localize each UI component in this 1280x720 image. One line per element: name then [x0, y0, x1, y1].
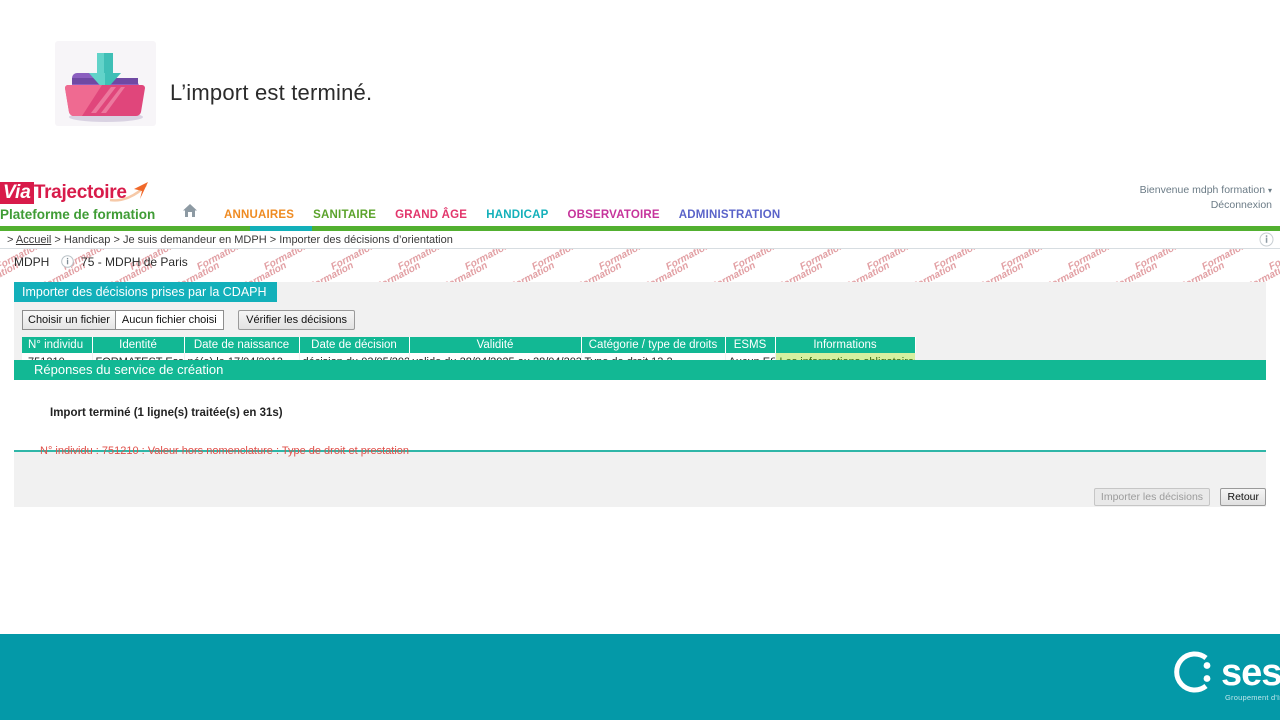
slide-top-area: L’import est terminé. — [0, 0, 1280, 180]
home-icon[interactable] — [181, 202, 199, 220]
breadcrumb-item-demandeur[interactable]: Je suis demandeur en MDPH — [123, 234, 267, 246]
import-folder-icon — [55, 41, 156, 126]
content-area: FormationFormationFormationFormationForm… — [0, 249, 1280, 634]
watermark-text: Formation — [932, 249, 980, 273]
application-window: ViaTrajectoire Plateforme de formation A… — [0, 180, 1280, 634]
watermark-text: Formation — [1066, 249, 1114, 273]
viatrajectoire-logo[interactable]: ViaTrajectoire Plateforme de formation — [0, 182, 150, 228]
user-welcome-row[interactable]: Bienvenue mdph formation ▾ — [1140, 183, 1272, 198]
watermark-text: Formation — [530, 249, 578, 273]
info-icon[interactable] — [61, 251, 74, 264]
sesan-tagline-prefix: Groupement d'Intérêt Public — [1225, 693, 1280, 702]
nav-item-grand-age[interactable]: GRAND ÂGE — [395, 209, 467, 221]
column-header-validite: Validité — [409, 337, 581, 353]
mdph-value[interactable]: 75 - MDPH de Paris — [81, 255, 188, 269]
choose-file-button[interactable]: Choisir un fichier — [23, 311, 116, 329]
page-background — [14, 452, 1266, 507]
logo-via-text: Via — [0, 182, 34, 204]
breadcrumb-item-handicap[interactable]: Handicap — [64, 234, 110, 246]
nav-item-annuaires[interactable]: ANNUAIRES — [224, 209, 294, 221]
breadcrumb-sep-1: > — [54, 234, 60, 246]
column-header-esms: ESMS — [725, 337, 775, 353]
import-decisions-button[interactable]: Importer les décisions — [1094, 488, 1210, 506]
breadcrumb: > Accueil > Handicap > Je suis demandeur… — [0, 231, 1280, 249]
sesan-tagline: Groupement d'Intérêt Public eSanté — [1225, 693, 1280, 702]
verify-decisions-button[interactable]: Vérifier les décisions — [238, 310, 355, 330]
import-panel: Importer des décisions prises par la CDA… — [14, 282, 1266, 452]
column-header-numero: N° individu — [22, 337, 92, 353]
bottom-actions: Importer les décisions Retour — [1094, 487, 1266, 506]
user-menu: Bienvenue mdph formation ▾ Déconnexion — [1140, 183, 1272, 212]
nav-item-handicap[interactable]: HANDICAP — [486, 209, 548, 221]
nav-item-sanitaire[interactable]: SANITAIRE — [313, 209, 376, 221]
table-header-row: N° individu Identité Date de naissance D… — [22, 337, 915, 353]
watermark-text: Formation — [865, 249, 913, 273]
column-header-informations: Informations — [775, 337, 915, 353]
watermark-text: Formation — [195, 249, 243, 273]
import-error-text: N° individu : 751210 : Valeur hors nomen… — [40, 445, 409, 457]
column-header-identite: Identité — [92, 337, 184, 353]
chevron-down-icon: ▾ — [1268, 186, 1272, 195]
panel-title: Importer des décisions prises par la CDA… — [14, 282, 277, 302]
slide-footer: sesan Groupement d'Intérêt Public eSanté — [0, 634, 1280, 720]
back-button[interactable]: Retour — [1220, 488, 1266, 506]
watermark-text: Formation — [999, 249, 1047, 273]
watermark-text: Formation — [396, 249, 444, 273]
watermark-text: Formation — [798, 249, 846, 273]
breadcrumb-prefix: > — [7, 234, 13, 246]
breadcrumb-item-accueil[interactable]: Accueil — [16, 234, 51, 246]
responses-panel: Réponses du service de création Import t… — [14, 360, 1266, 452]
watermark-text: Formation — [597, 249, 645, 273]
mdph-label: MDPH — [14, 255, 49, 269]
chosen-file-name: Aucun fichier choisi — [116, 311, 223, 329]
file-input[interactable]: Choisir un fichierAucun fichier choisi — [22, 310, 224, 330]
breadcrumb-sep-2: > — [113, 234, 119, 246]
watermark-text: Formation — [1200, 249, 1248, 273]
sesan-logo: sesan Groupement d'Intérêt Public eSanté — [1169, 648, 1217, 701]
watermark-text: Formation — [463, 249, 511, 273]
column-header-naissance: Date de naissance — [184, 337, 299, 353]
logout-link[interactable]: Déconnexion — [1211, 199, 1272, 211]
info-icon[interactable] — [1259, 232, 1274, 247]
import-toolbar: Choisir un fichierAucun fichier choisi V… — [22, 310, 355, 330]
watermark-text: Formation — [262, 249, 310, 273]
responses-title: Réponses du service de création — [14, 360, 1266, 380]
mdph-selector-row: MDPH 75 - MDPH de Paris — [14, 249, 188, 275]
nav-item-administration[interactable]: ADMINISTRATION — [679, 209, 781, 221]
main-navigation: ANNUAIRESSANITAIREGRAND ÂGEHANDICAPOBSER… — [224, 205, 799, 225]
slide-caption: L’import est terminé. — [170, 80, 372, 106]
import-summary-text: Import terminé (1 ligne(s) traitée(s) en… — [50, 407, 283, 419]
app-header: ViaTrajectoire Plateforme de formation A… — [0, 180, 1280, 228]
column-header-categorie: Catégorie / type de droits — [581, 337, 725, 353]
breadcrumb-item-current: Importer des décisions d’orientation — [279, 234, 453, 246]
nav-item-observatoire[interactable]: OBSERVATOIRE — [567, 209, 659, 221]
column-header-decision: Date de décision — [299, 337, 409, 353]
sesan-logo-icon — [1169, 683, 1217, 700]
breadcrumb-sep-3: > — [270, 234, 276, 246]
logo-subtitle: Plateforme de formation — [0, 207, 155, 222]
watermark-text: Formation — [1267, 249, 1280, 273]
watermark-text: Formation — [664, 249, 712, 273]
watermark-text: Formation — [329, 249, 377, 273]
watermark-text: Formation — [731, 249, 779, 273]
watermark-text: Formation — [1133, 249, 1181, 273]
sesan-wordmark: sesan — [1221, 654, 1280, 692]
user-welcome-label: Bienvenue mdph formation — [1140, 184, 1266, 196]
